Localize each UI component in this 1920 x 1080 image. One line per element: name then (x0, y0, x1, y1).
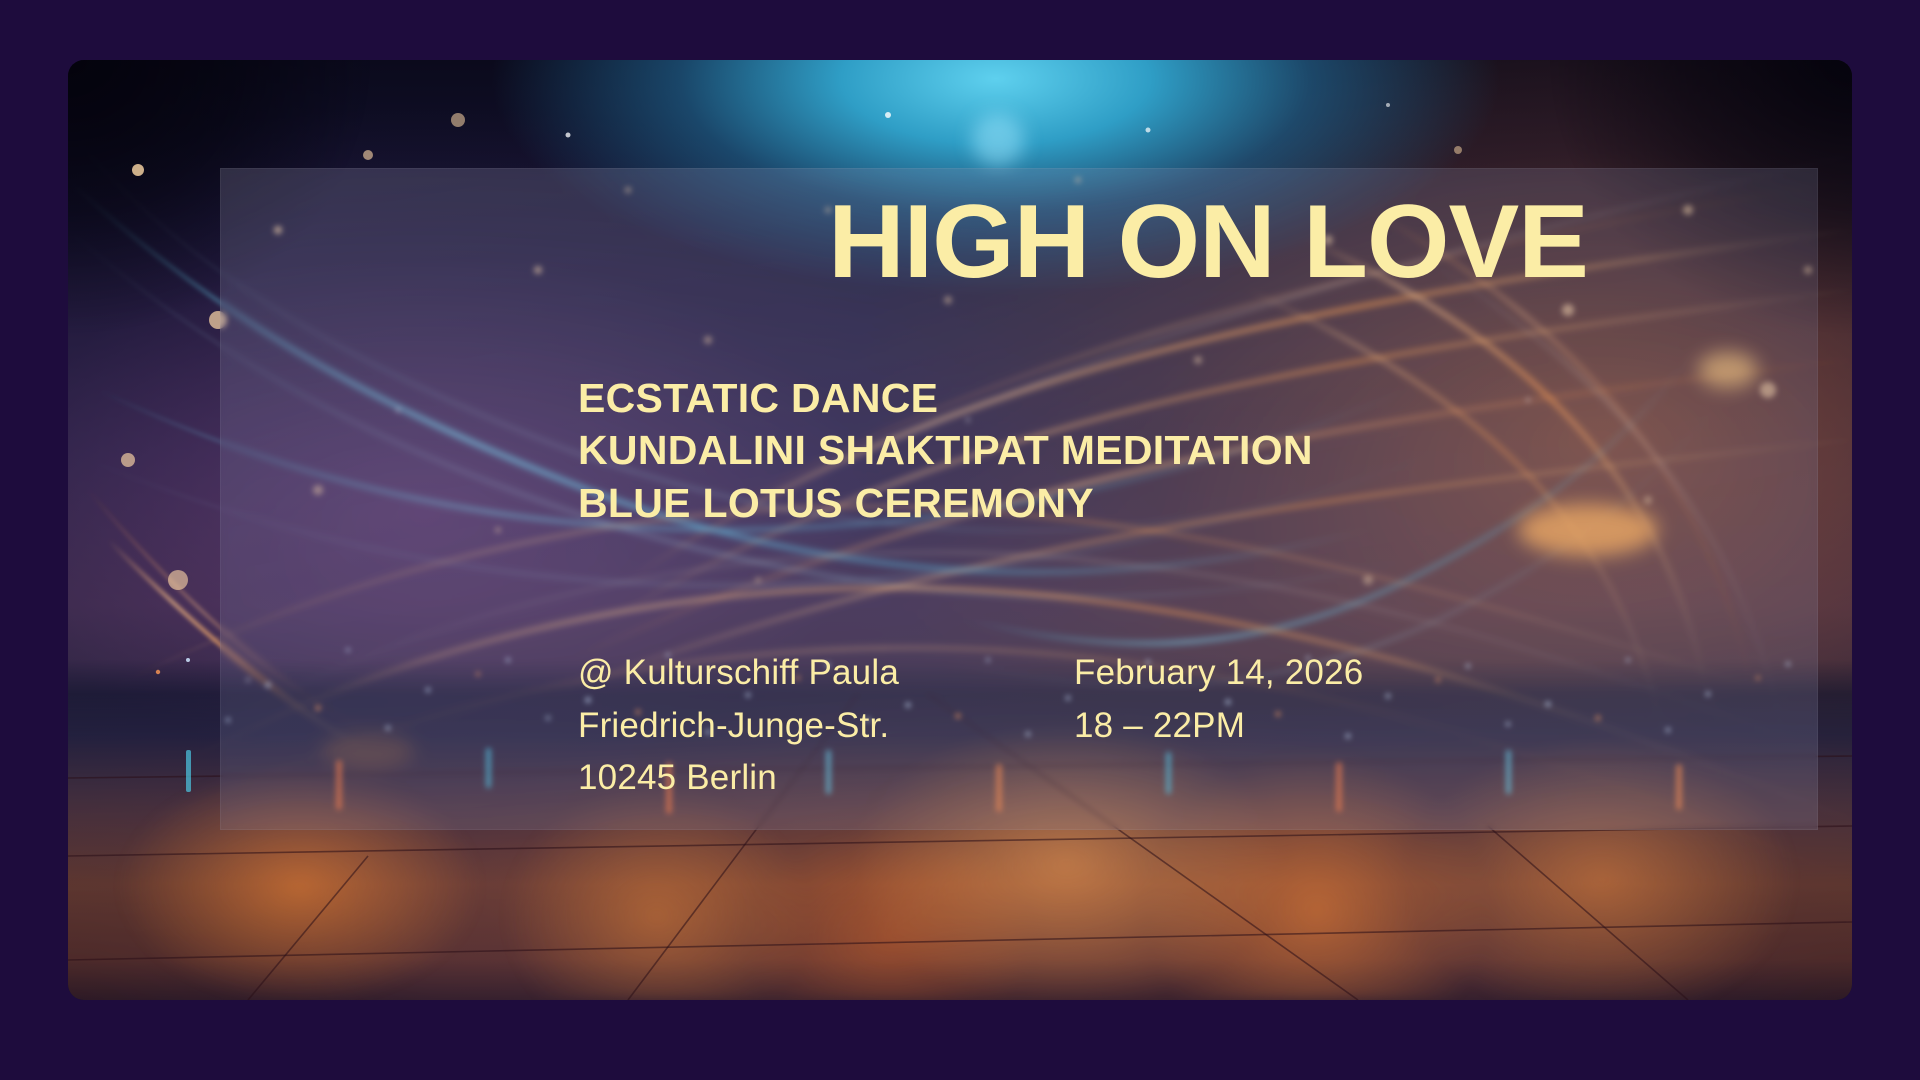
program-item-blue-lotus-ceremony: BLUE LOTUS CEREMONY (578, 477, 1838, 529)
venue-city: 10245 Berlin (578, 752, 1074, 805)
program-item-kundalini-shaktipat-meditation: KUNDALINI SHAKTIPAT MEDITATION (578, 424, 1838, 476)
program-list: ECSTATIC DANCE KUNDALINI SHAKTIPAT MEDIT… (578, 372, 1838, 529)
schedule-block: February 14, 2026 18 – 22PM (1074, 647, 1574, 805)
event-time: 18 – 22PM (1074, 700, 1574, 753)
poster-content: HIGH ON LOVE ECSTATIC DANCE KUNDALINI SH… (578, 190, 1838, 805)
event-details: @ Kulturschiff Paula Friedrich-Junge-Str… (578, 647, 1838, 805)
poster-artwork: HIGH ON LOVE ECSTATIC DANCE KUNDALINI SH… (68, 60, 1852, 1000)
venue-block: @ Kulturschiff Paula Friedrich-Junge-Str… (578, 647, 1074, 805)
event-date: February 14, 2026 (1074, 647, 1574, 700)
venue-street: Friedrich-Junge-Str. (578, 700, 1074, 753)
poster-canvas: HIGH ON LOVE ECSTATIC DANCE KUNDALINI SH… (0, 0, 1920, 1080)
poster-title: HIGH ON LOVE (565, 190, 1850, 294)
program-item-ecstatic-dance: ECSTATIC DANCE (578, 372, 1838, 424)
venue-name: @ Kulturschiff Paula (578, 647, 1074, 700)
